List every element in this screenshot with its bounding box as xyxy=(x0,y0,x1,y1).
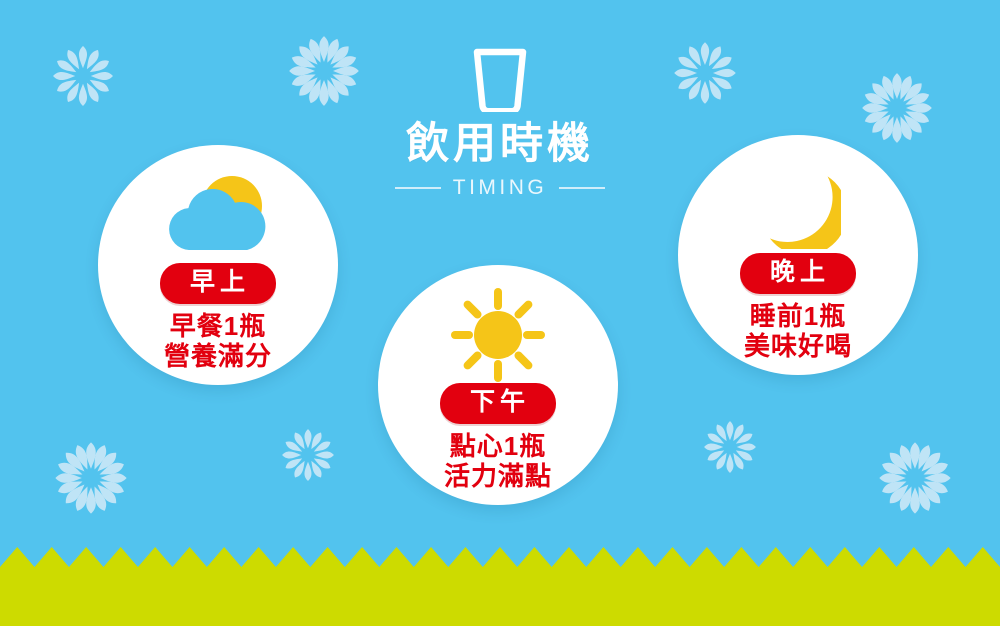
subtitle-row: TIMING xyxy=(320,176,680,200)
caption-morning-line1: 早餐1瓶 xyxy=(164,311,272,341)
page-subtitle: TIMING xyxy=(453,176,548,200)
caption-morning-line2: 營養滿分 xyxy=(164,341,272,371)
timing-card-afternoon[interactable]: 下午 點心1瓶 活力滿點 xyxy=(378,265,618,505)
subtitle-dash-right xyxy=(559,187,605,189)
badge-afternoon: 下午 xyxy=(440,383,556,424)
decorative-burst-4 xyxy=(854,65,940,151)
badge-night: 晚上 xyxy=(740,253,856,294)
infographic-canvas: 飲用時機 TIMING 早上 早餐1瓶 營養滿分 xyxy=(0,0,1000,626)
sun-behind-cloud-icon xyxy=(98,167,338,263)
caption-afternoon: 點心1瓶 活力滿點 xyxy=(444,431,552,491)
header-block: 飲用時機 TIMING xyxy=(320,46,680,200)
caption-afternoon-line1: 點心1瓶 xyxy=(444,431,552,461)
zigzag-band xyxy=(0,536,1000,626)
decorative-burst-1 xyxy=(46,39,120,113)
caption-morning: 早餐1瓶 營養滿分 xyxy=(164,311,272,371)
caption-night-line1: 睡前1瓶 xyxy=(744,301,852,331)
caption-afternoon-line2: 活力滿點 xyxy=(444,461,552,491)
decorative-burst-7 xyxy=(698,415,762,479)
sun-icon xyxy=(378,287,618,383)
timing-card-morning[interactable]: 早上 早餐1瓶 營養滿分 xyxy=(98,145,338,385)
caption-night-line2: 美味好喝 xyxy=(744,331,852,361)
page-title: 飲用時機 xyxy=(320,123,680,167)
crescent-moon-icon xyxy=(678,157,918,253)
caption-night: 睡前1瓶 美味好喝 xyxy=(744,301,852,361)
subtitle-dash-left xyxy=(395,187,441,189)
badge-morning: 早上 xyxy=(160,263,276,304)
decorative-burst-6 xyxy=(276,423,340,487)
decorative-burst-8 xyxy=(871,434,959,522)
drinking-glass-icon xyxy=(320,46,680,117)
timing-card-night[interactable]: 晚上 睡前1瓶 美味好喝 xyxy=(678,135,918,375)
decorative-burst-5 xyxy=(47,434,135,522)
